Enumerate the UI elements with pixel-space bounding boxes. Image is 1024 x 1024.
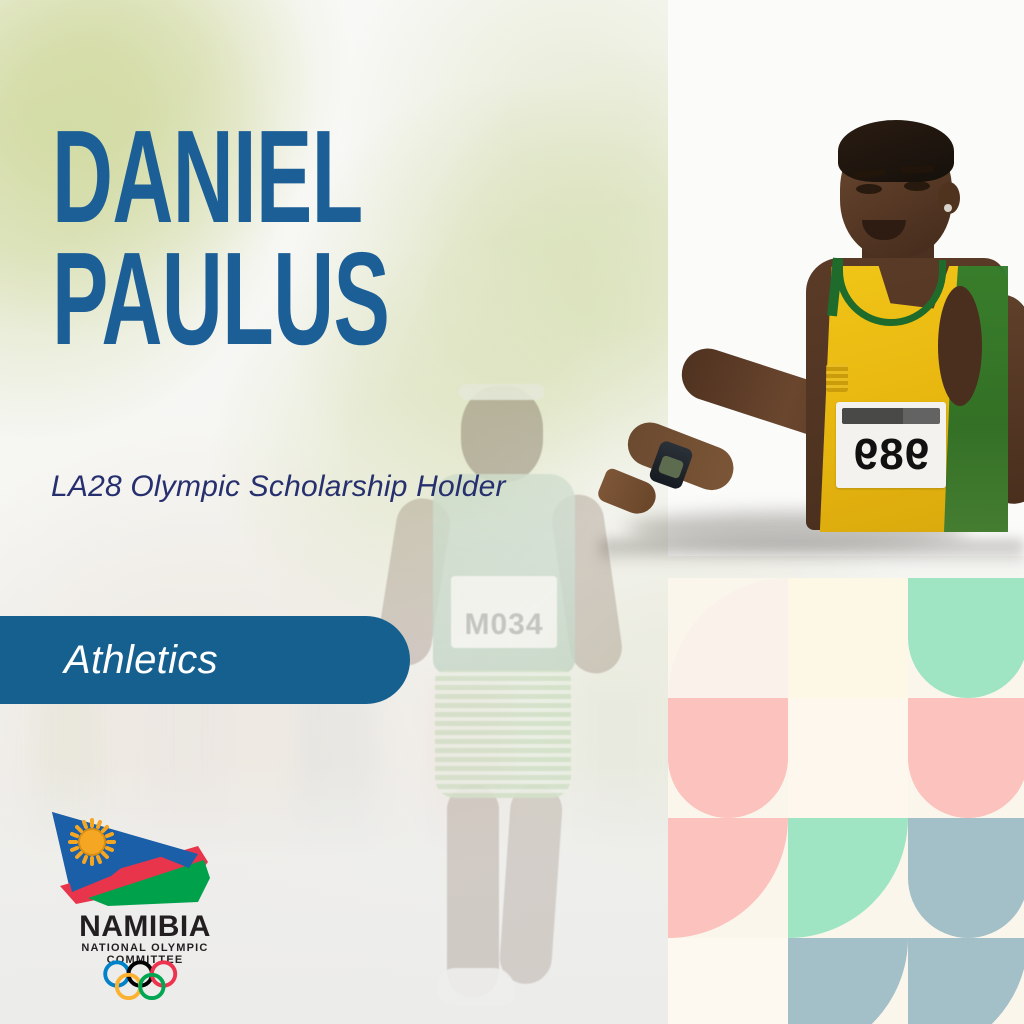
pattern-cell-0-2 — [908, 578, 1024, 698]
pattern-shape-quarter-circle — [788, 818, 908, 938]
athlete-eye-right — [904, 181, 930, 191]
pattern-shape-square — [788, 578, 908, 698]
athlete-name: DANIEL PAULUS — [52, 120, 410, 355]
background-runner-shoe — [437, 968, 515, 1004]
geometric-pattern — [668, 578, 1024, 1024]
pattern-cell-1-2 — [908, 698, 1024, 818]
pattern-shape-square — [668, 938, 788, 1024]
pattern-cell-3-1 — [788, 938, 908, 1024]
sport-badge: Athletics — [0, 616, 410, 704]
pattern-cell-2-0 — [668, 818, 788, 938]
background-runner-left-leg — [447, 784, 499, 998]
pattern-cell-2-2 — [908, 818, 1024, 938]
pattern-shape-quarter-circle — [908, 938, 1024, 1024]
pattern-shape-quarter-circle — [668, 818, 788, 938]
pattern-cell-3-0 — [668, 938, 788, 1024]
pattern-cell-0-1 — [788, 578, 908, 698]
pattern-shape-quarter-circle — [668, 578, 788, 698]
background-runner-bib-number: M034 — [464, 608, 543, 642]
namibia-noc-logo: NAMIBIA NATIONAL OLYMPIC COMMITTEE — [38, 806, 250, 1002]
pattern-shape-half-circle — [908, 578, 1024, 698]
pattern-cell-2-1 — [788, 818, 908, 938]
pattern-shape-half-circle — [908, 818, 1024, 938]
pattern-shape-quarter-circle — [788, 938, 908, 1024]
athlete-earring — [944, 204, 952, 212]
athlete-photo: 989 — [600, 108, 1024, 558]
athlete-last-name: PAULUS — [52, 242, 410, 356]
background-runner-right-leg — [498, 782, 564, 985]
background-runner-headband — [459, 384, 545, 400]
sport-badge-label: Athletics — [64, 638, 218, 683]
athlete-profile-card: M034 989 DANIEL PAU — [0, 0, 1024, 1024]
athlete-first-name: DANIEL — [52, 120, 410, 234]
athlete-race-bib-sponsor-strip — [842, 408, 940, 424]
background-runner-shorts — [435, 670, 571, 798]
pattern-cell-3-2 — [908, 938, 1024, 1024]
olympic-rings-icon — [100, 960, 196, 1002]
pattern-shape-half-circle — [668, 698, 788, 818]
athlete-eye-left — [856, 184, 882, 194]
athlete-team-crest — [826, 364, 848, 392]
athlete-race-bib-number: 989 — [836, 426, 946, 484]
logo-country-name: NAMIBIA — [50, 910, 240, 944]
pattern-cell-0-0 — [668, 578, 788, 698]
scholarship-subtitle: LA28 Olympic Scholarship Holder — [51, 470, 506, 504]
namibia-flag-icon — [48, 806, 214, 910]
pattern-shape-half-circle — [908, 698, 1024, 818]
background-runner-head — [461, 386, 543, 482]
pattern-cell-1-1 — [788, 698, 908, 818]
background-runner-bib: M034 — [451, 576, 557, 648]
pattern-shape-square — [788, 698, 908, 818]
pattern-cell-1-0 — [668, 698, 788, 818]
athlete-singlet-armhole — [938, 286, 982, 406]
